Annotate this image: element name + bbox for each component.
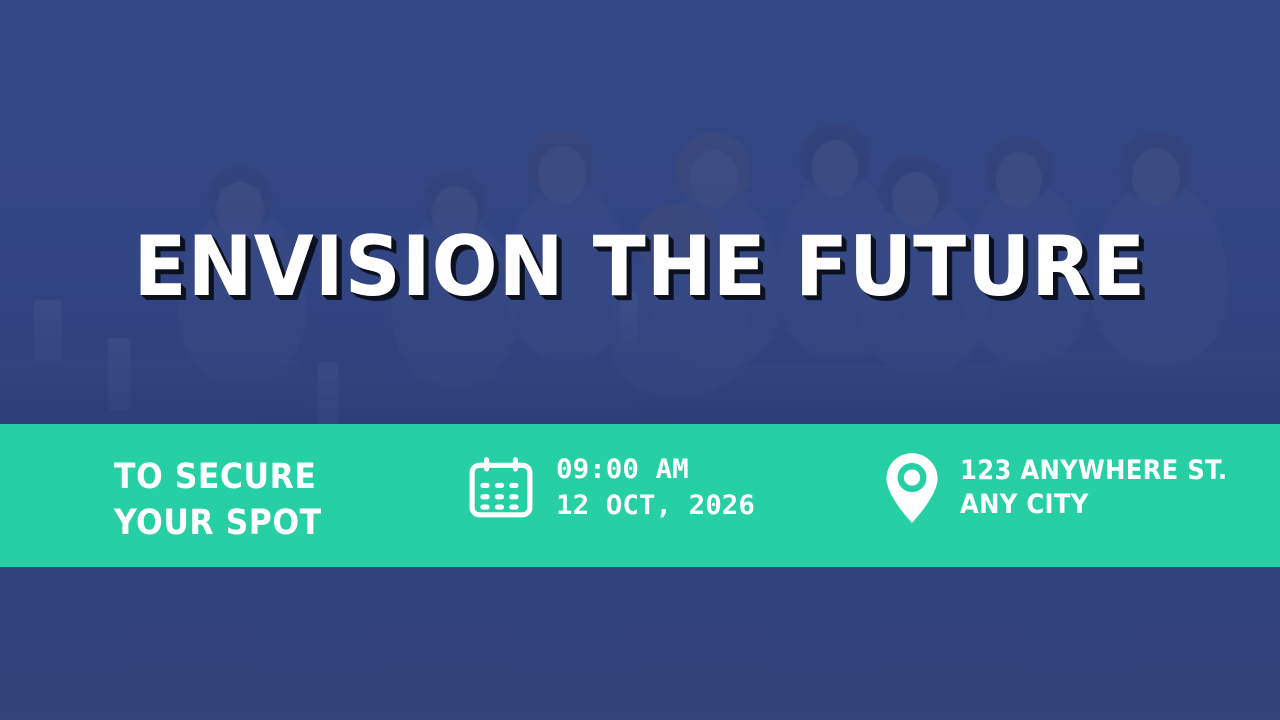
contact-bar: +123-456-7890 Mail@brandname.com (0, 600, 1280, 660)
event-time: 09:00 AM (556, 452, 755, 488)
headline-container: ENVISION THE FUTURE (0, 228, 1280, 306)
location-text-group: 123 ANYWHERE ST. ANY CITY (960, 454, 1227, 522)
calendar-icon (468, 455, 534, 521)
cta-line-2: YOUR SPOT (114, 500, 322, 546)
location-block: 123 ANYWHERE ST. ANY CITY (884, 452, 1227, 524)
date-text-group: 09:00 AM 12 OCT, 2026 (556, 452, 755, 524)
date-time-block: 09:00 AM 12 OCT, 2026 (468, 452, 751, 524)
address-line-1: 123 ANYWHERE ST. (960, 454, 1227, 488)
address-line-2: ANY CITY (960, 488, 1227, 522)
page-title: ENVISION THE FUTURE (134, 228, 1147, 306)
cta-text: TO SECURE YOUR SPOT (114, 454, 322, 546)
event-date: 12 OCT, 2026 (556, 488, 755, 524)
map-pin-icon (884, 452, 940, 524)
event-poster: ENVISION THE FUTURE TO SECURE YOUR SPOT (0, 0, 1280, 720)
cta-line-1: TO SECURE (114, 454, 322, 500)
